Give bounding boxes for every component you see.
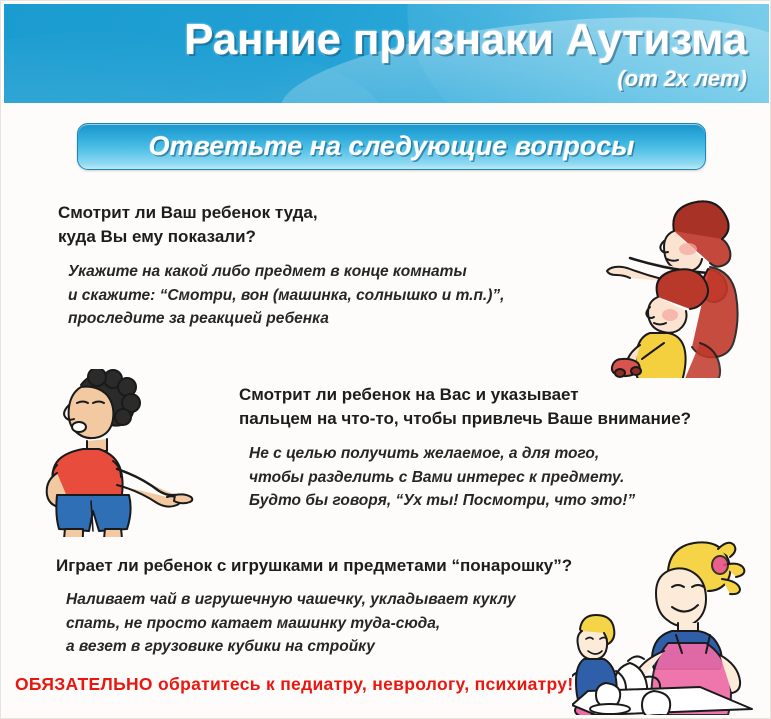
poster-header: Ранние признаки Аутизма (от 2х лет) — [4, 4, 769, 103]
warning-text: ОБЯЗАТЕЛЬНО обратитесь к педиатру, невро… — [15, 674, 573, 695]
question-2-heading-line-1: Смотрит ли ребенок на Вас и указывает — [239, 383, 691, 407]
question-1-heading-line-1: Смотрит ли Ваш ребенок туда, — [58, 201, 504, 225]
question-3-heading-line-1: Играет ли ребенок с игрушками и предмета… — [56, 554, 572, 578]
question-1-heading-line-2: куда Вы ему показали? — [58, 225, 504, 249]
girl-tea-party-with-doll-illustration — [572, 535, 768, 715]
question-block-3: Играет ли ребенок с игрушками и предмета… — [56, 554, 572, 659]
question-block-1: Смотрит ли Ваш ребенок туда, куда Вы ему… — [58, 201, 504, 331]
question-2-body-line-1: Не с целью получить желаемое, а для того… — [249, 442, 691, 466]
question-3-heading: Играет ли ребенок с игрушками и предмета… — [56, 554, 572, 578]
question-2-body: Не с целью получить желаемое, а для того… — [249, 442, 691, 513]
boy-pointing-illustration — [25, 369, 205, 537]
instruction-banner: Ответьте на следующие вопросы — [77, 123, 706, 170]
question-3-body-line-1: Наливает чай в игрушечную чашечку, уклад… — [66, 588, 572, 612]
question-2-body-line-2: чтобы разделить с Вами интерес к предмет… — [249, 466, 691, 490]
instruction-banner-label: Ответьте на следующие вопросы — [149, 131, 635, 162]
question-1-body-line-1: Укажите на какой либо предмет в конце ко… — [68, 260, 504, 284]
question-3-body-line-2: спать, не просто катает машинку туда-сюд… — [66, 612, 572, 636]
question-1-heading: Смотрит ли Ваш ребенок туда, куда Вы ему… — [58, 201, 504, 249]
question-block-2: Смотрит ли ребенок на Вас и указывает па… — [239, 383, 691, 513]
question-2-heading-line-2: пальцем на что-то, чтобы привлечь Ваше в… — [239, 407, 691, 431]
page-subtitle: (от 2х лет) — [617, 66, 747, 92]
question-3-body: Наливает чай в игрушечную чашечку, уклад… — [66, 588, 572, 659]
question-2-heading: Смотрит ли ребенок на Вас и указывает па… — [239, 383, 691, 431]
poster-root: Ранние признаки Аутизма (от 2х лет) Отве… — [0, 0, 771, 719]
mother-pointing-with-child-illustration — [604, 193, 766, 378]
question-1-body-line-2: и скажите: “Смотри, вон (машинка, солныш… — [68, 284, 504, 308]
question-1-body-line-3: проследите за реакцией ребенка — [68, 307, 504, 331]
question-3-body-line-3: а везет в грузовике кубики на стройку — [66, 635, 572, 659]
page-title: Ранние признаки Аутизма — [4, 18, 747, 62]
question-1-body: Укажите на какой либо предмет в конце ко… — [68, 260, 504, 331]
question-2-body-line-3: Будто бы говоря, “Ух ты! Посмотри, что э… — [249, 489, 691, 513]
